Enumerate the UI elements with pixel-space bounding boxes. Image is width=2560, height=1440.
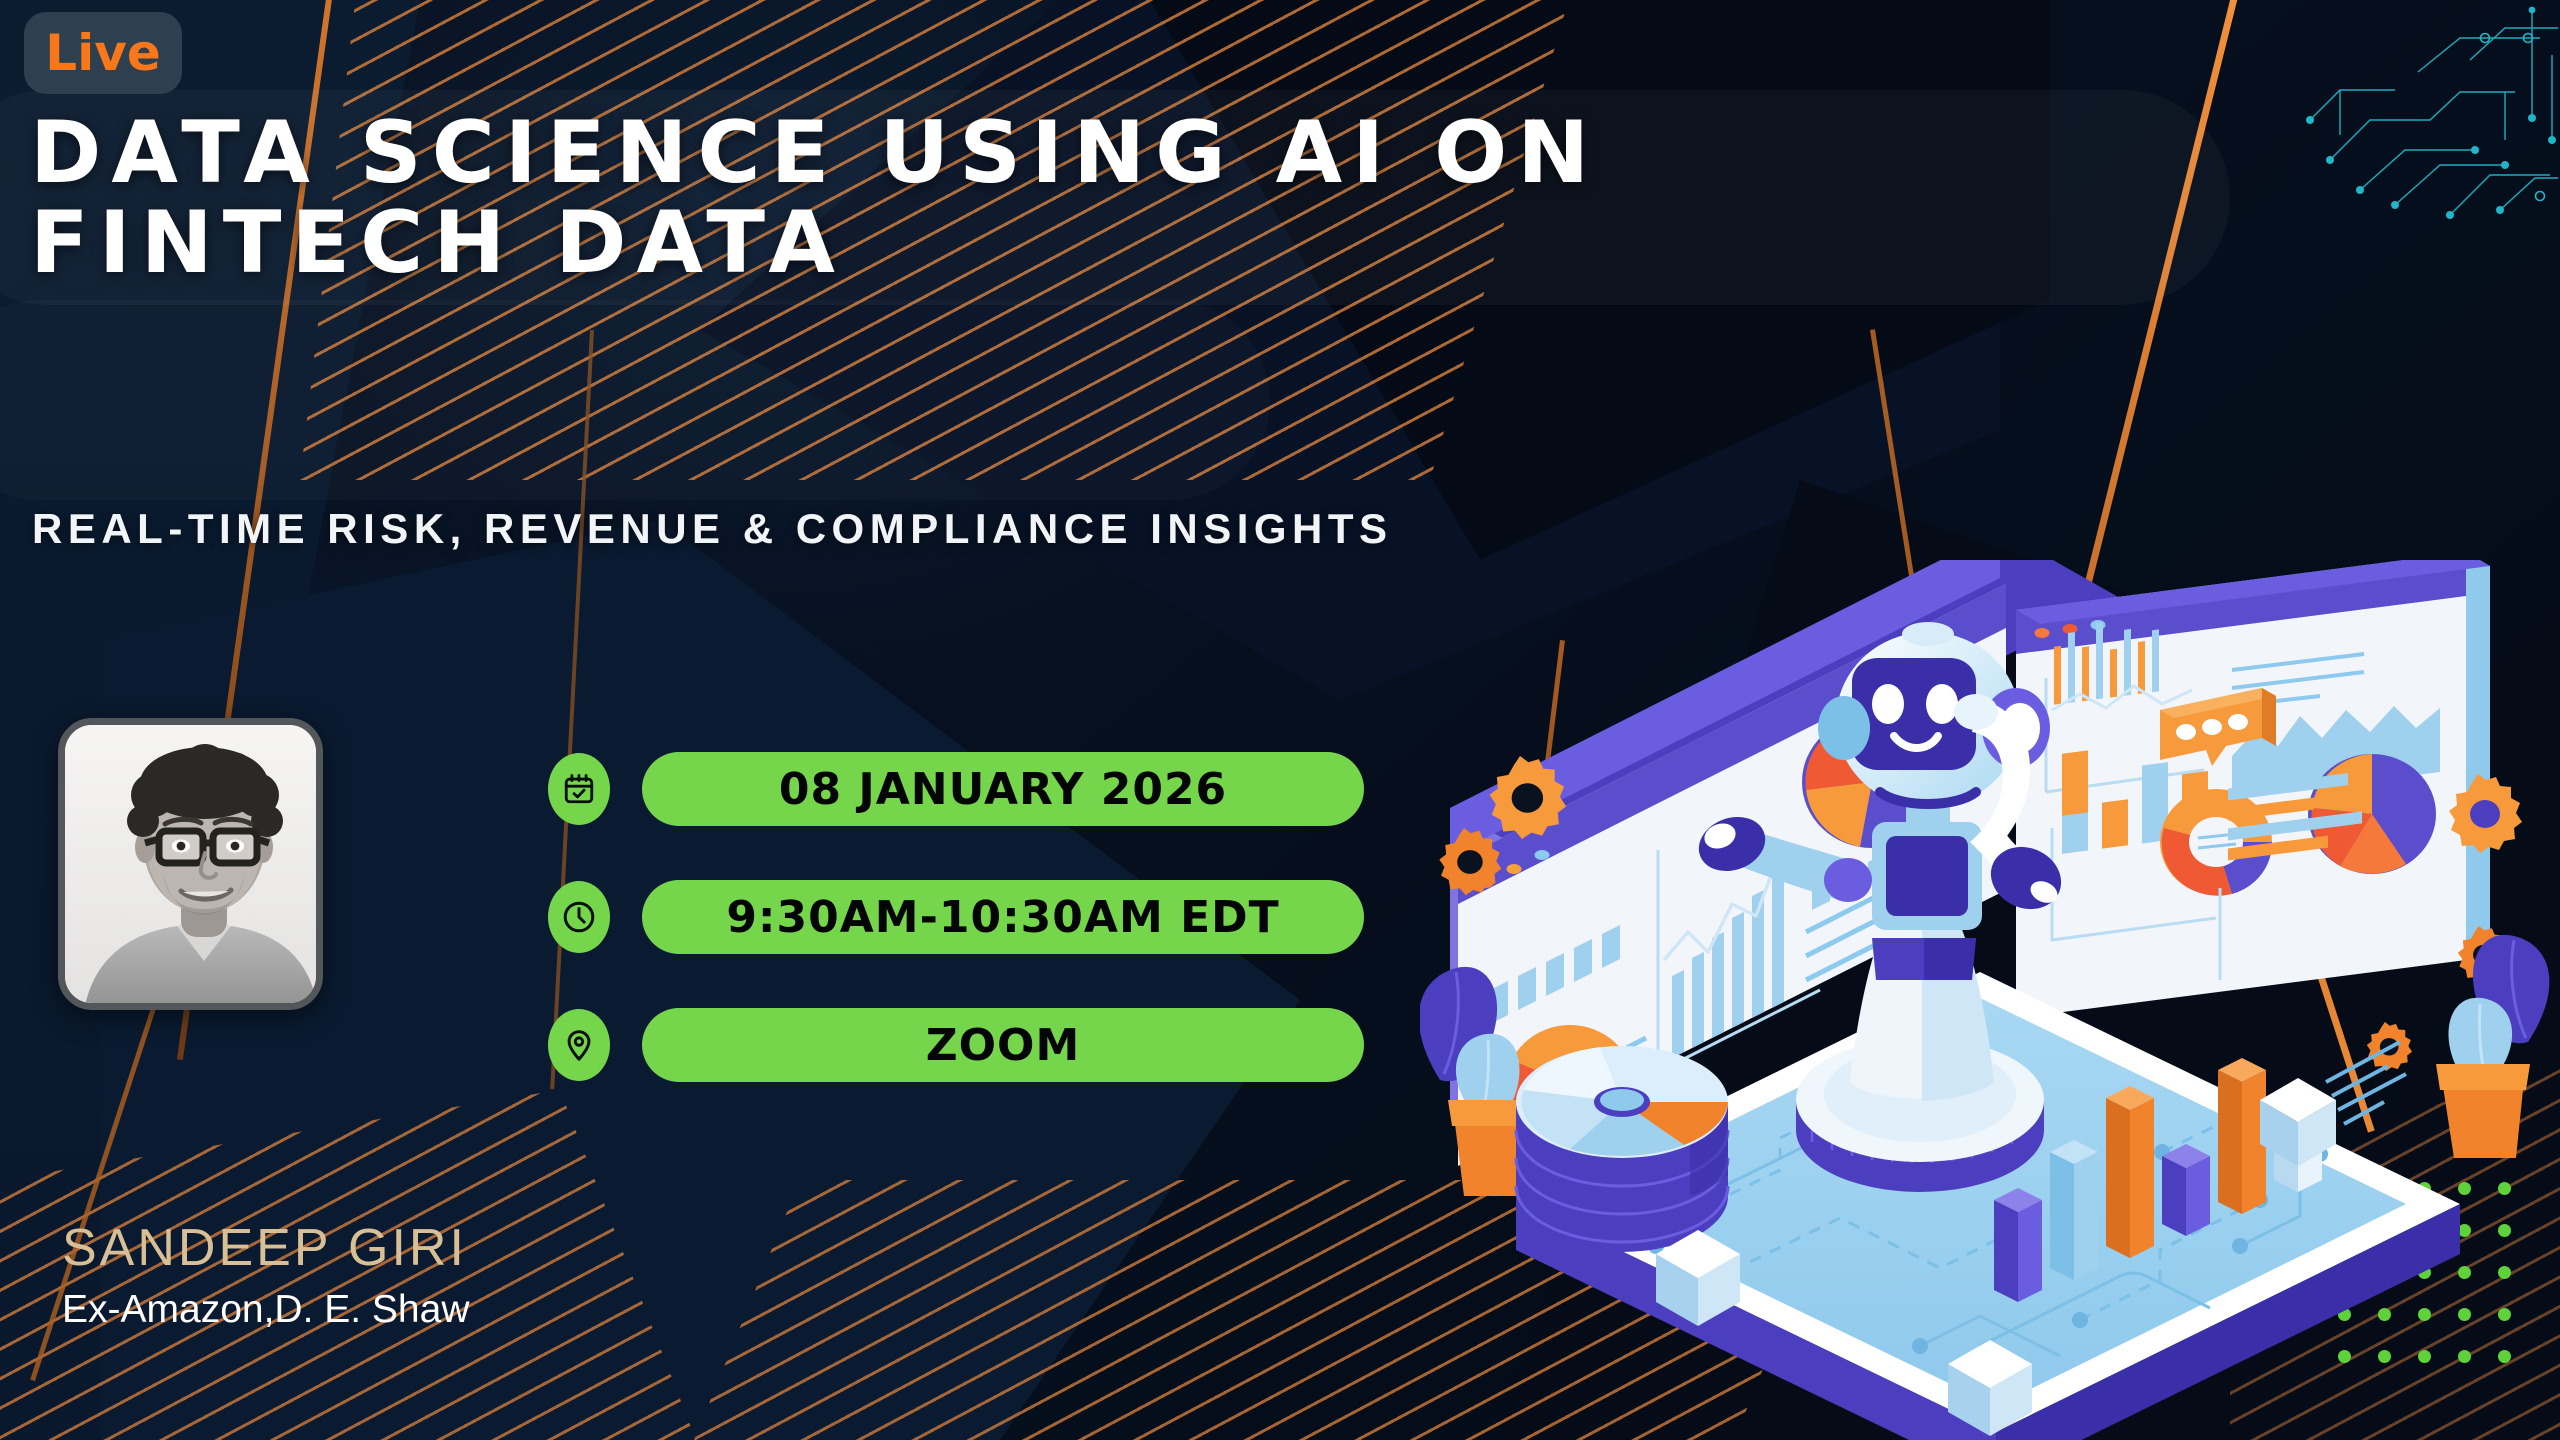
detail-row-time: 9:30AM-10:30AM EDT [548, 880, 1364, 954]
pie-chart [2308, 754, 2436, 874]
speaker-role: Ex-Amazon,D. E. Shaw [62, 1288, 469, 1332]
page-title-line2: FINTECH DATA [30, 198, 2330, 288]
date-pill[interactable]: 08 JANUARY 2026 [642, 752, 1364, 826]
time-label: 9:30AM-10:30AM EDT [726, 892, 1279, 943]
database-cylinder [1516, 1046, 1728, 1252]
illustration-svg [1420, 560, 2560, 1440]
date-label: 08 JANUARY 2026 [779, 764, 1227, 815]
calendar-glyph [562, 772, 596, 806]
page-title: DATA SCIENCE USING AI ON FINTECH DATA [30, 108, 2330, 289]
location-label: ZOOM [926, 1020, 1081, 1071]
page-title-line1: DATA SCIENCE USING AI ON [30, 103, 1599, 203]
event-details-list: 08 JANUARY 2026 9:30AM-10:30AM EDT [548, 752, 1364, 1136]
live-badge: Live [24, 12, 182, 94]
clock-icon [548, 881, 610, 953]
location-pin-icon [548, 1009, 610, 1081]
content-layer: Live DATA SCIENCE USING AI ON FINTECH DA… [0, 0, 2560, 1440]
page-subtitle: REAL-TIME RISK, REVENUE & COMPLIANCE INS… [32, 505, 1532, 553]
isometric-ai-dashboard-illustration [1420, 560, 2560, 1440]
detail-row-date: 08 JANUARY 2026 [548, 752, 1364, 826]
live-badge-label: Live [45, 24, 161, 82]
clock-glyph [561, 899, 597, 935]
speaker-portrait-icon [65, 725, 323, 1010]
time-pill[interactable]: 9:30AM-10:30AM EDT [642, 880, 1364, 954]
location-pin-glyph [562, 1028, 596, 1062]
detail-row-location: ZOOM [548, 1008, 1364, 1082]
location-pill[interactable]: ZOOM [642, 1008, 1364, 1082]
speaker-name: SANDEEP GIRI [62, 1218, 467, 1278]
avatar [58, 718, 323, 1010]
dashboard-panel-right [2016, 560, 2490, 1018]
calendar-icon [548, 753, 610, 825]
